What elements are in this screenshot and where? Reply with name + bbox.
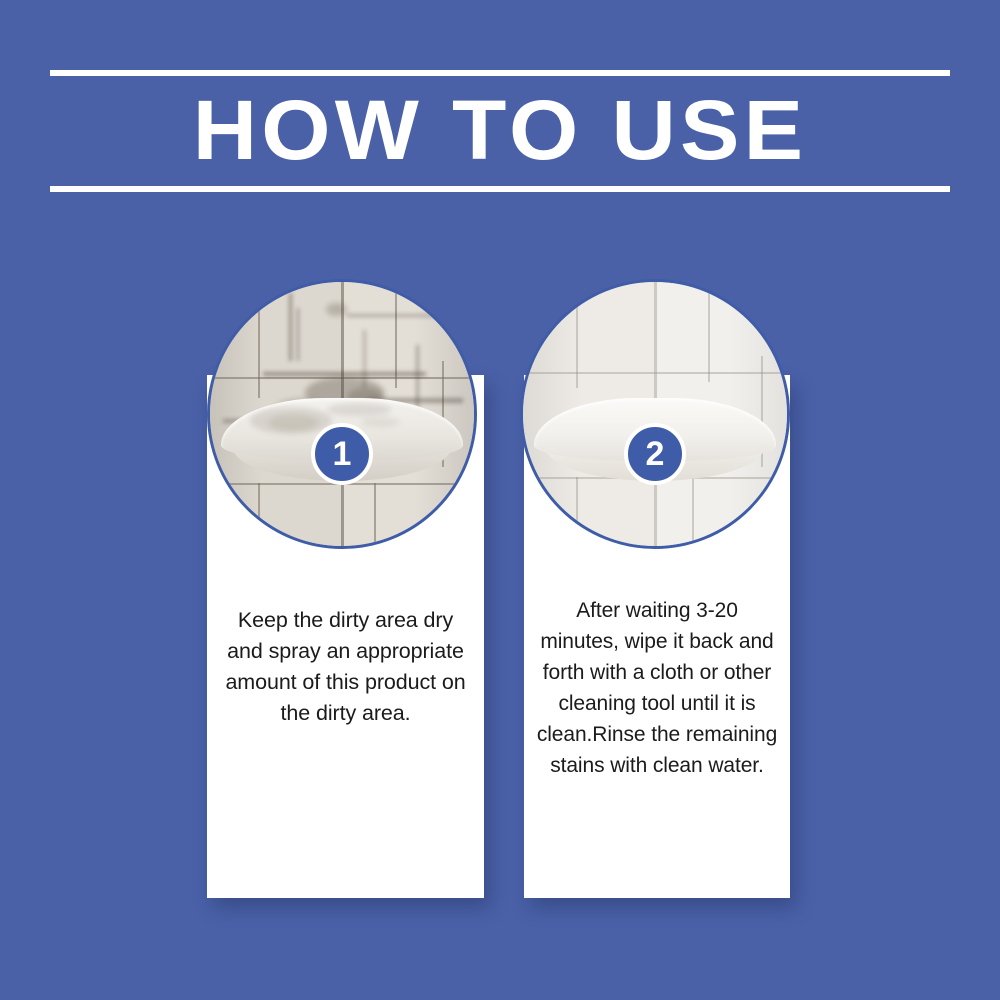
step-1-badge: 1 (311, 423, 373, 485)
step-2-text: After waiting 3-20 minutes, wipe it back… (536, 595, 778, 781)
mold-streak (263, 372, 427, 376)
shelf-stain (327, 403, 390, 416)
mold-streak (297, 308, 299, 361)
step-card-1: 1 Keep the dirty area dry and spray an a… (207, 375, 484, 898)
steps-container: 1 Keep the dirty area dry and spray an a… (0, 0, 1000, 1000)
grout-line (708, 282, 710, 382)
grout-line (258, 282, 260, 398)
grout-line (576, 282, 578, 388)
shelf-stain (269, 414, 318, 430)
mold-streak (347, 314, 453, 317)
step-2-badge: 2 (624, 423, 686, 485)
grout-line (374, 483, 376, 546)
mold-streak (289, 293, 292, 362)
clean-shower-corner-photo (523, 282, 787, 546)
step-2-photo: 2 (520, 279, 790, 549)
step-1-text: Keep the dirty area dry and spray an app… (219, 605, 472, 729)
step-1-photo: 1 (207, 279, 477, 549)
grout-line (692, 477, 694, 546)
dirty-shower-corner-photo (210, 282, 474, 546)
shelf-stain (361, 417, 400, 427)
grout-line (258, 483, 260, 546)
step-card-2: 2 After waiting 3-20 minutes, wipe it ba… (524, 375, 790, 898)
grout-line (576, 477, 578, 546)
